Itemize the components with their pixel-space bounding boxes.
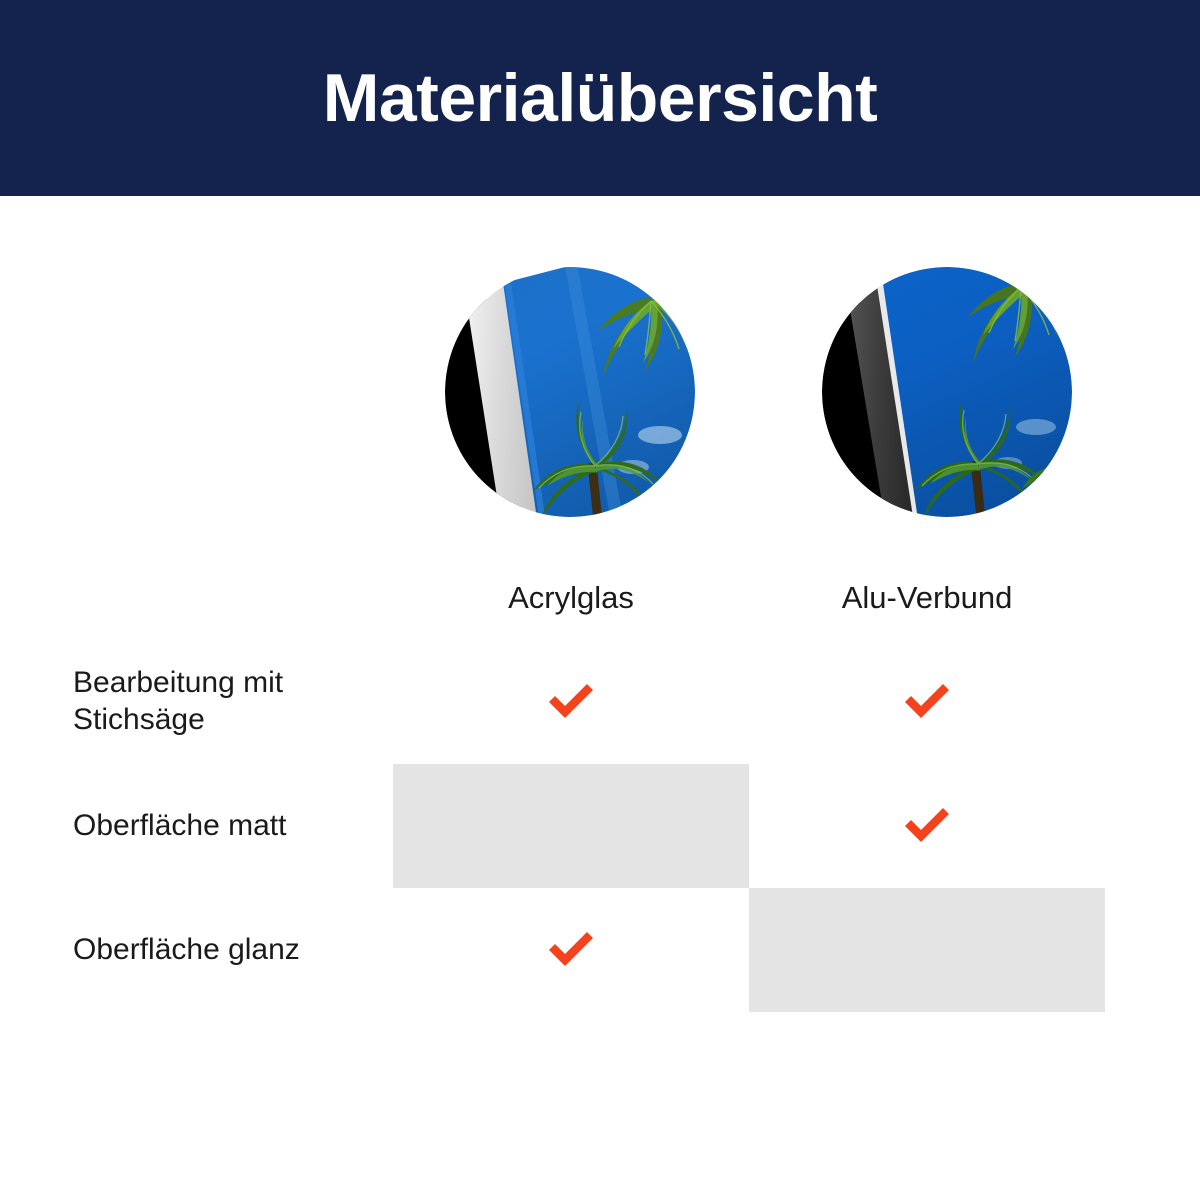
check-icon (899, 678, 955, 722)
cell-glanz-acrylglas (393, 888, 749, 1012)
table-row: Bearbeitung mit Stichsäge (73, 640, 1105, 764)
cell-bearbeitung-acrylglas (393, 640, 749, 764)
header-banner: Materialübersicht (0, 0, 1200, 196)
acrylglas-sample-image (445, 267, 695, 517)
table-header-row: Acrylglas Alu-Verbund (73, 556, 1105, 640)
aluverbund-panel-illustration (822, 267, 1072, 517)
cell-matt-acrylglas-unavailable (393, 764, 749, 888)
row-label-bearbeitung-stichsaege: Bearbeitung mit Stichsäge (73, 640, 393, 764)
row-label-oberflaeche-matt: Oberfläche matt (73, 764, 393, 888)
column-header-acrylglas: Acrylglas (393, 556, 749, 640)
row-label-line: Bearbeitung mit (73, 665, 393, 702)
material-comparison-table: Acrylglas Alu-Verbund Bearbeitung mit St… (73, 556, 1105, 1014)
page-title: Materialübersicht (323, 64, 878, 132)
row-label-oberflaeche-glanz: Oberfläche glanz (73, 888, 393, 1012)
table-row: Oberfläche glanz (73, 888, 1105, 1012)
check-icon (543, 678, 599, 722)
column-header-aluverbund: Alu-Verbund (749, 556, 1105, 640)
cell-bearbeitung-aluverbund (749, 640, 1105, 764)
row-label-line: Oberfläche matt (73, 808, 393, 845)
acrylglas-panel-illustration (445, 267, 695, 517)
header-empty-corner (73, 556, 393, 640)
row-label-line: Oberfläche glanz (73, 932, 393, 969)
comparison-table-grid: Acrylglas Alu-Verbund Bearbeitung mit St… (73, 556, 1105, 1012)
check-icon (543, 926, 599, 970)
cell-matt-aluverbund (749, 764, 1105, 888)
aluverbund-sample-image (822, 267, 1072, 517)
check-icon (899, 802, 955, 846)
row-label-line: Stichsäge (73, 702, 393, 739)
table-row: Oberfläche matt (73, 764, 1105, 888)
cell-glanz-aluverbund-unavailable (749, 888, 1105, 1012)
